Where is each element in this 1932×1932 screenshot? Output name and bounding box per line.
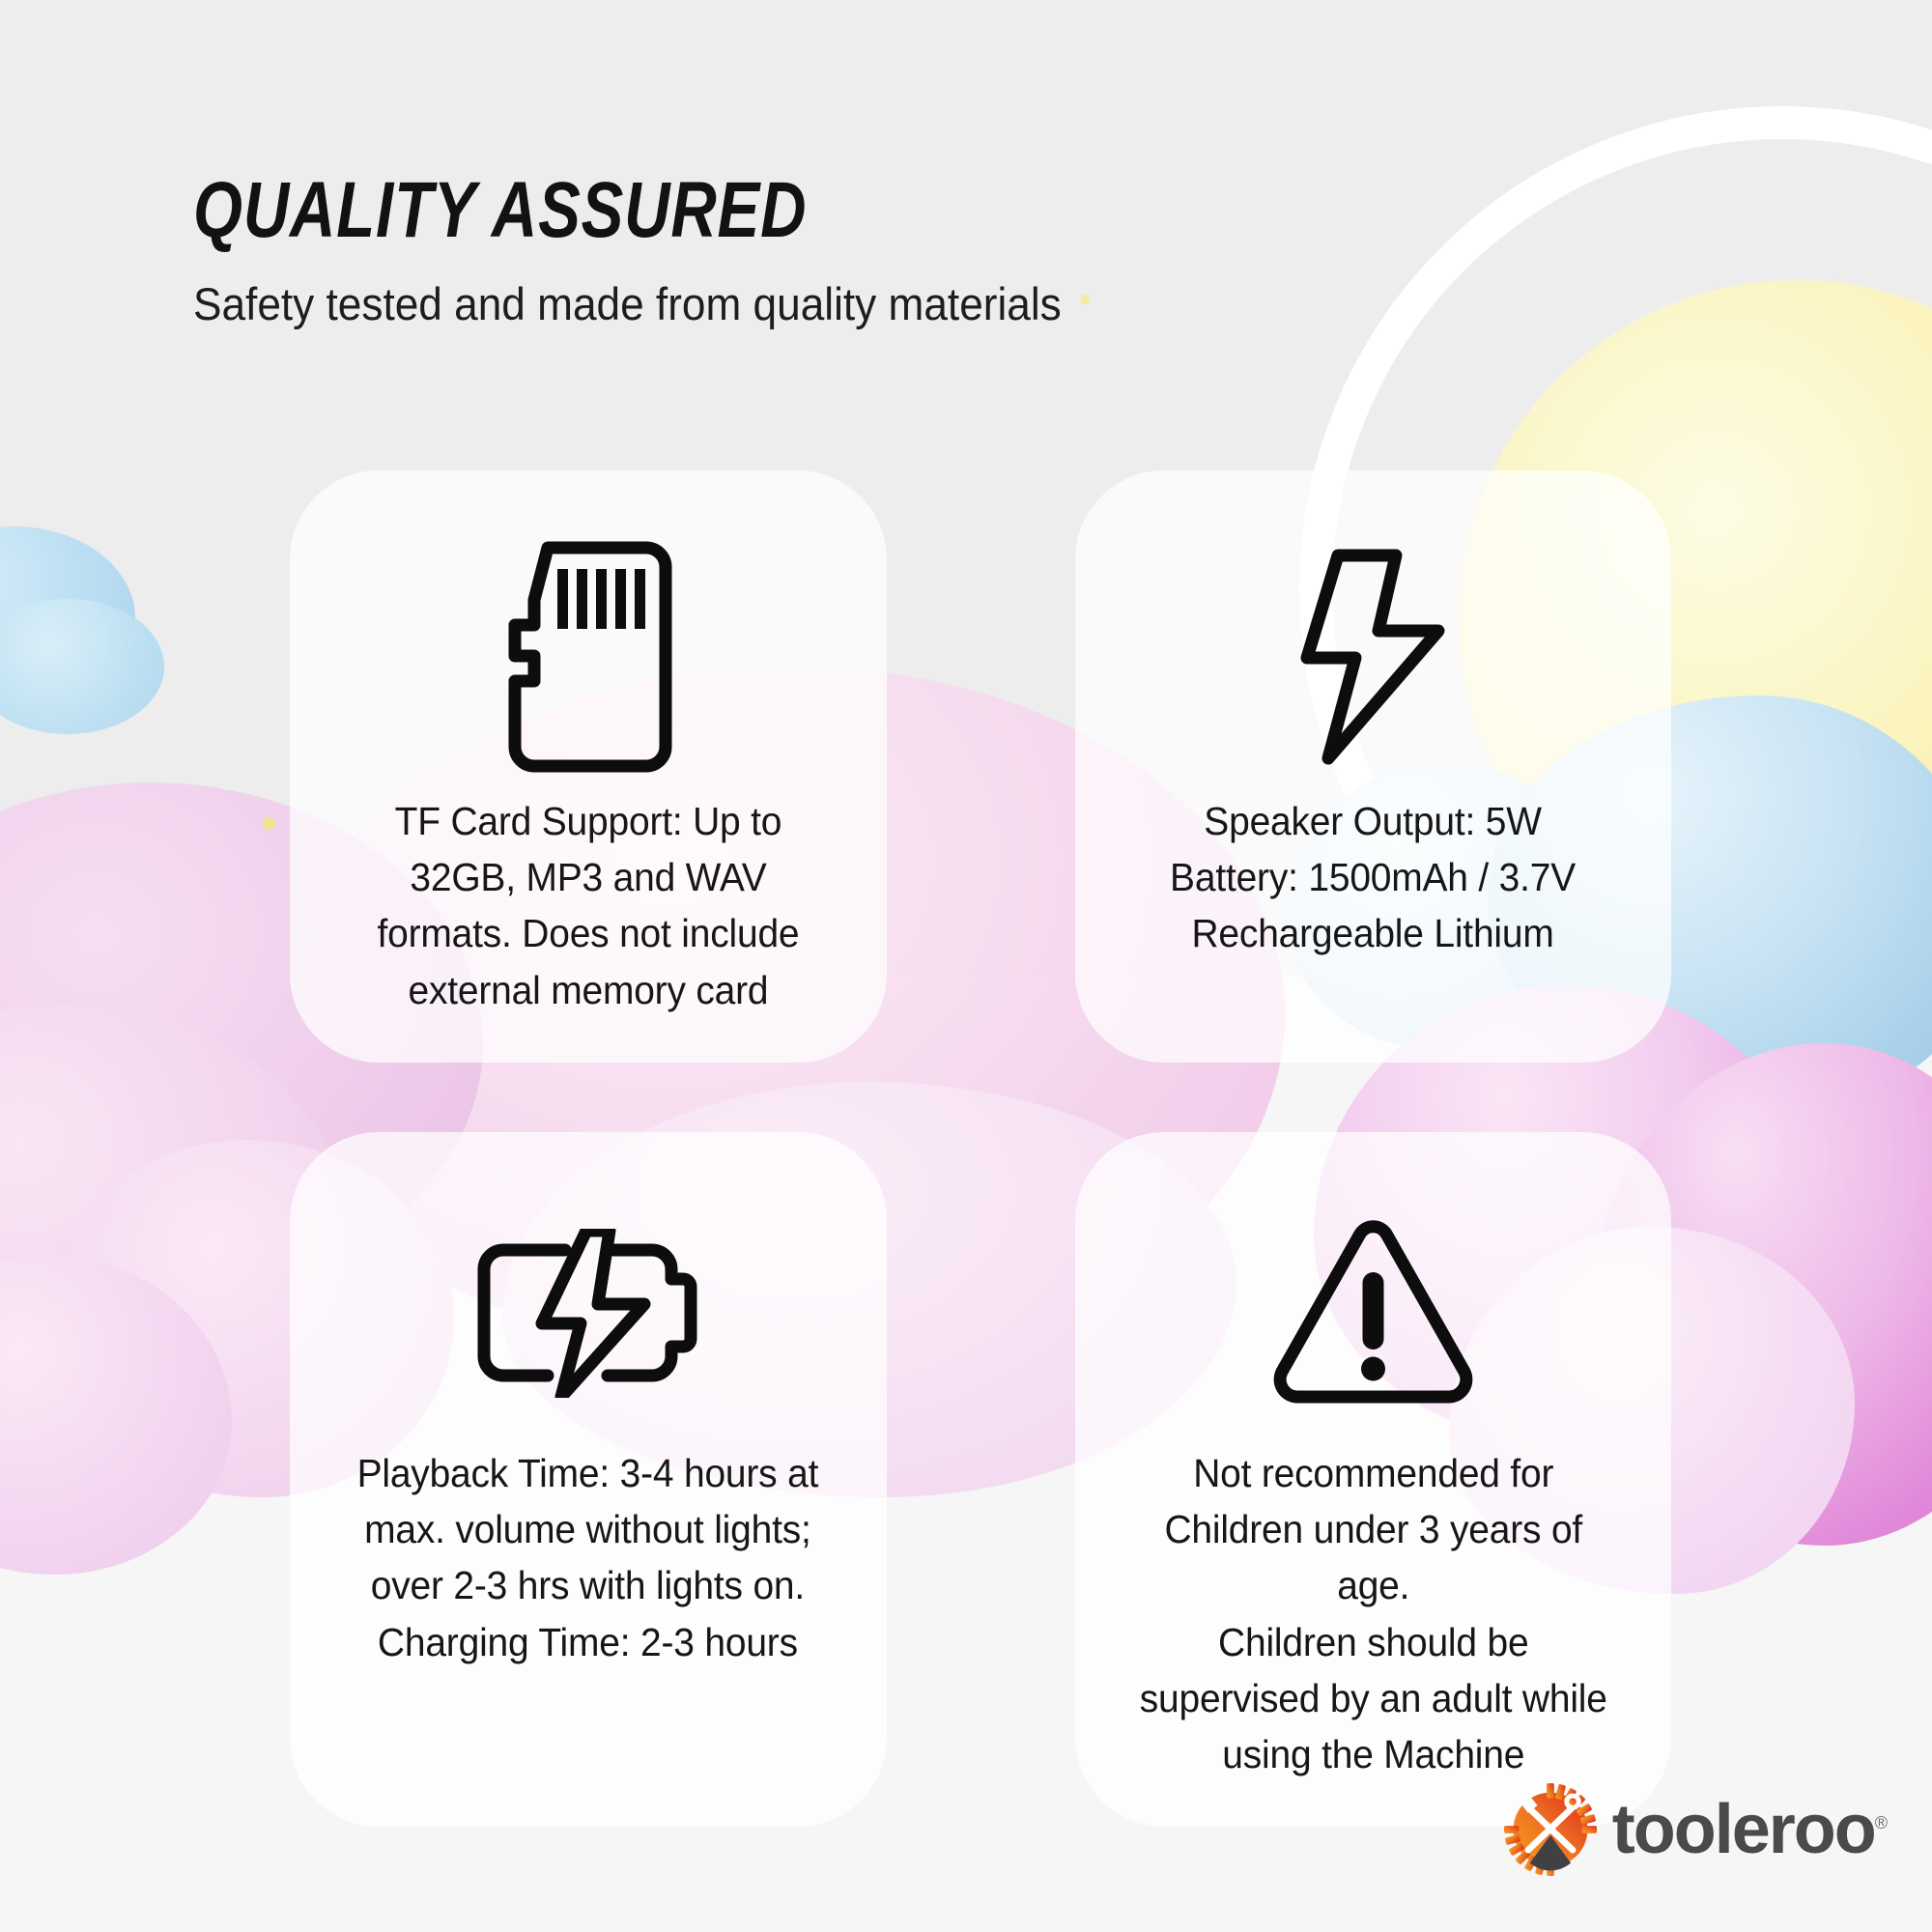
tooleroo-gear-icon [1504, 1783, 1597, 1876]
lightning-bolt-icon [1295, 521, 1450, 793]
warning-triangle-icon [1269, 1182, 1477, 1445]
feature-card-speaker-battery: Speaker Output: 5W Battery: 1500mAh / 3.… [1075, 470, 1672, 1063]
microsd-card-icon [501, 521, 675, 793]
feature-card-row-2: Playback Time: 3-4 hours at max. volume … [290, 1132, 1671, 1827]
feature-card-text: TF Card Support: Up to 32GB, MP3 and WAV… [377, 793, 799, 1018]
feature-card-text: Not recommended for Children under 3 yea… [1132, 1445, 1614, 1782]
infographic-canvas: QUALITY ASSURED Safety tested and made f… [0, 0, 1932, 1932]
brand-logo: tooleroo® [1504, 1783, 1886, 1876]
feature-card-age-warning: Not recommended for Children under 3 yea… [1075, 1132, 1672, 1827]
registered-trademark-symbol: ® [1875, 1813, 1886, 1833]
feature-card-playback-time: Playback Time: 3-4 hours at max. volume … [290, 1132, 887, 1827]
page-subtitle: Safety tested and made from quality mate… [193, 277, 1062, 330]
tooleroo-wordmark-text: tooleroo [1612, 1791, 1875, 1868]
blue-blob-left-lower [0, 599, 164, 734]
tooleroo-wordmark: tooleroo® [1612, 1795, 1886, 1864]
feature-card-text: Speaker Output: 5W Battery: 1500mAh / 3.… [1170, 793, 1576, 962]
page-title: QUALITY ASSURED [193, 169, 932, 252]
pink-blob-far-left [0, 1256, 232, 1575]
pink-blob-right-far [1748, 1121, 1932, 1468]
feature-card-text: Playback Time: 3-4 hours at max. volume … [357, 1445, 819, 1670]
feature-card-grid: TF Card Support: Up to 32GB, MP3 and WAV… [290, 470, 1671, 1827]
battery-charging-icon [472, 1182, 704, 1445]
blue-blob-left [0, 526, 135, 710]
yellow-dot-accent [263, 817, 275, 830]
feature-card-tf-card: TF Card Support: Up to 32GB, MP3 and WAV… [290, 470, 887, 1063]
header: QUALITY ASSURED Safety tested and made f… [193, 169, 1117, 330]
feature-card-row-1: TF Card Support: Up to 32GB, MP3 and WAV… [290, 470, 1671, 1063]
